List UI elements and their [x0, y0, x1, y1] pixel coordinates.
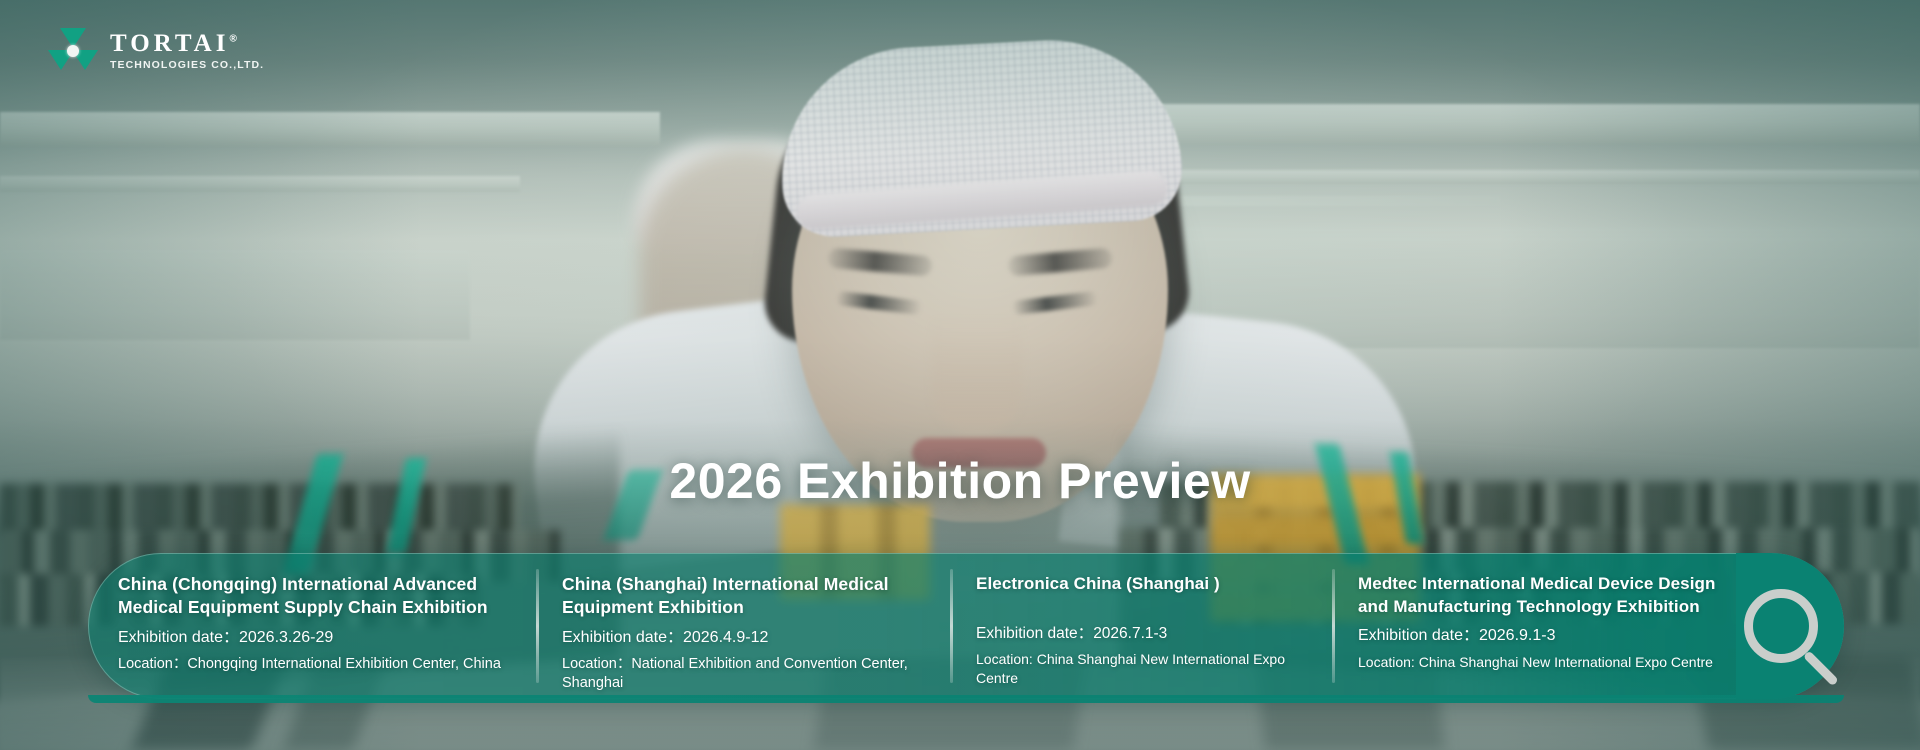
- exhibition-location: Location：Chongqing International Exhibit…: [118, 655, 532, 675]
- exhibition-date-label: Exhibition date：: [562, 629, 683, 646]
- exhibition-date: Exhibition date：2026.7.1-3: [976, 622, 1328, 645]
- exhibition-location: Location：National Exhibition and Convent…: [562, 655, 946, 694]
- exhibition-list: China (Chongqing) International Advanced…: [88, 553, 1844, 699]
- exhibition-meta: Exhibition date：2026.3.26-29 Location：Ch…: [118, 626, 532, 675]
- brand-wordmark: TORTAI® TECHNOLOGIES CO.,LTD.: [110, 29, 264, 71]
- brand-logo[interactable]: TORTAI® TECHNOLOGIES CO.,LTD.: [50, 28, 264, 72]
- search-icon-handle: [1803, 650, 1839, 686]
- exhibition-meta: Exhibition date：2026.7.1-3 Location: Chi…: [976, 622, 1328, 688]
- exhibition-date-value: 2026.7.1-3: [1093, 625, 1167, 642]
- exhibition-title: Medtec International Medical Device Desi…: [1358, 573, 1732, 618]
- exhibition-date-value: 2026.9.1-3: [1479, 627, 1556, 644]
- exhibition-location-label: Location：: [118, 656, 187, 672]
- exhibition-date-value: 2026.4.9-12: [683, 629, 768, 646]
- exhibition-location-label: Location:: [1358, 654, 1415, 670]
- exhibition-date-label: Exhibition date：: [976, 625, 1093, 642]
- exhibition-location-label: Location：: [562, 656, 631, 672]
- exhibition-date: Exhibition date：2026.4.9-12: [562, 626, 946, 650]
- exhibition-card[interactable]: China (Shanghai) International Medical E…: [536, 553, 950, 699]
- exhibition-title: China (Shanghai) International Medical E…: [562, 573, 946, 620]
- exhibition-date-value: 2026.3.26-29: [239, 629, 333, 646]
- exhibition-meta: Exhibition date：2026.4.9-12 Location：Nat…: [562, 626, 946, 694]
- exhibition-date: Exhibition date：2026.9.1-3: [1358, 624, 1732, 648]
- exhibition-location: Location: China Shanghai New Internation…: [1358, 653, 1732, 672]
- brand-subtitle: TECHNOLOGIES CO.,LTD.: [110, 60, 264, 71]
- exhibition-location-value: Chongqing International Exhibition Cente…: [187, 656, 501, 672]
- exhibition-location-value: China Shanghai New International Expo Ce…: [1419, 654, 1713, 670]
- exhibition-card[interactable]: Medtec International Medical Device Desi…: [1332, 553, 1736, 699]
- exhibition-title: China (Chongqing) International Advanced…: [118, 573, 532, 620]
- tortai-triangles-logo: [50, 28, 96, 72]
- exhibition-card[interactable]: Electronica China (Shanghai ) Exhibition…: [950, 553, 1332, 699]
- exhibition-card[interactable]: China (Chongqing) International Advanced…: [88, 553, 536, 699]
- page-title: 2026 Exhibition Preview: [0, 452, 1920, 510]
- exhibition-date: Exhibition date：2026.3.26-29: [118, 626, 532, 650]
- exhibition-location-label: Location:: [976, 651, 1033, 667]
- exhibition-date-label: Exhibition date：: [1358, 627, 1479, 644]
- exhibition-date-label: Exhibition date：: [118, 629, 239, 646]
- logo-center-dot: [67, 45, 79, 57]
- search-icon: [1744, 589, 1840, 685]
- registered-trademark-icon: ®: [229, 34, 236, 45]
- exhibition-title: Electronica China (Shanghai ): [976, 573, 1328, 596]
- exhibition-meta: Exhibition date：2026.9.1-3 Location: Chi…: [1358, 624, 1732, 672]
- exhibition-location: Location: China Shanghai New Internation…: [976, 650, 1328, 688]
- brand-name: TORTAI: [110, 30, 229, 57]
